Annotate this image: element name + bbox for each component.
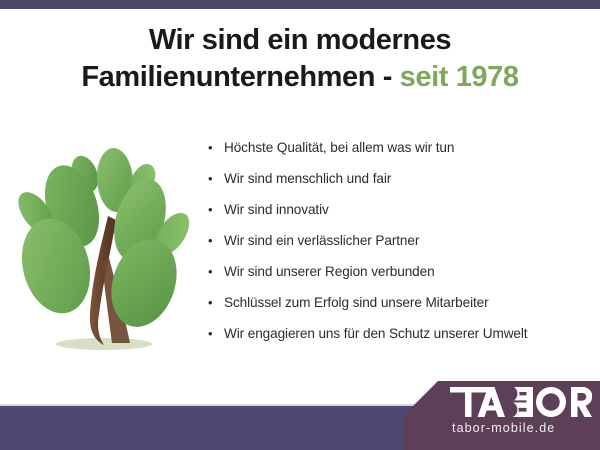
headline-line-2: Familienunternehmen - seit 1978 xyxy=(0,59,600,96)
slide-canvas: Wir sind ein modernes Familienunternehme… xyxy=(0,0,600,450)
bullet-marker-icon: • xyxy=(208,234,224,247)
list-item-label: Schlüssel zum Erfolg sind unsere Mitarbe… xyxy=(224,295,489,310)
bullet-marker-icon: • xyxy=(208,203,224,216)
top-accent-bar xyxy=(0,0,600,9)
tree-shadow xyxy=(56,338,152,350)
list-item: • Wir sind innovativ xyxy=(208,202,596,233)
list-item-label: Wir sind ein verlässlicher Partner xyxy=(224,233,419,248)
list-item: • Schlüssel zum Erfolg sind unsere Mitar… xyxy=(208,295,596,326)
page-title: Wir sind ein modernes Familienunternehme… xyxy=(0,22,600,96)
list-item-label: Wir sind unserer Region verbunden xyxy=(224,264,435,279)
list-item: • Wir sind ein verlässlicher Partner xyxy=(208,233,596,264)
bullet-marker-icon: • xyxy=(208,265,224,278)
headline-line-1: Wir sind ein modernes xyxy=(0,22,600,59)
bullet-marker-icon: • xyxy=(208,296,224,309)
list-item: • Wir engagieren uns für den Schutz unse… xyxy=(208,326,596,357)
bullet-marker-icon: • xyxy=(208,141,224,154)
brand-tagline: tabor-mobile.de xyxy=(452,421,555,435)
list-item: • Wir sind menschlich und fair xyxy=(208,171,596,202)
headline-line-2-main: Familienunternehmen - xyxy=(81,61,399,93)
list-item: • Wir sind unserer Region verbunden xyxy=(208,264,596,295)
bullet-marker-icon: • xyxy=(208,172,224,185)
list-item: • Höchste Qualität, bei allem was wir tu… xyxy=(208,140,596,171)
benefits-list: • Höchste Qualität, bei allem was wir tu… xyxy=(208,140,596,357)
list-item-label: Wir sind innovativ xyxy=(224,202,329,217)
bullet-marker-icon: • xyxy=(208,327,224,340)
brand-logo-block: tabor-mobile.de xyxy=(404,381,600,450)
tabor-wordmark xyxy=(450,387,592,417)
list-item-label: Höchste Qualität, bei allem was wir tun xyxy=(224,140,454,155)
tree-illustration xyxy=(12,138,194,360)
headline-accent-year: seit 1978 xyxy=(400,61,519,93)
list-item-label: Wir sind menschlich und fair xyxy=(224,171,391,186)
list-item-label: Wir engagieren uns für den Schutz unsere… xyxy=(224,326,527,341)
